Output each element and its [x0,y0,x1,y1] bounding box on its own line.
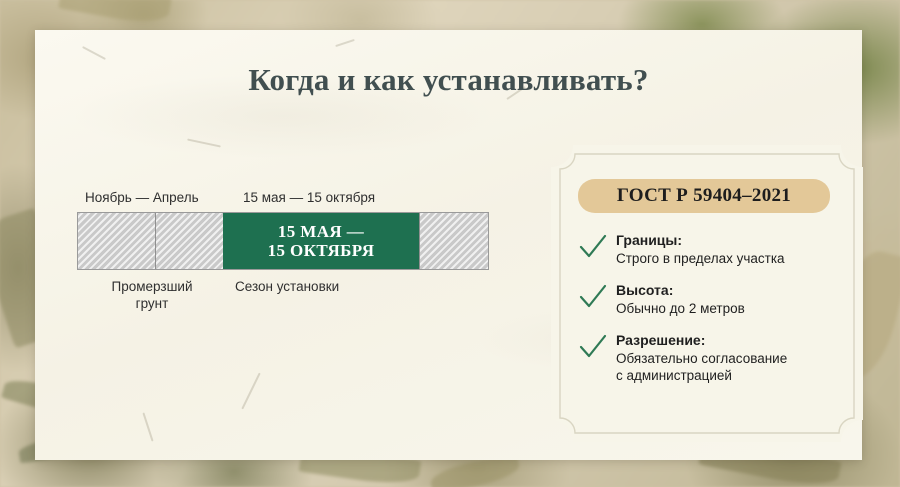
list-item-desc-line2: с администрацией [616,367,787,384]
timeline-segment-frozen-a [78,213,155,269]
list-item-term: Разрешение: [616,332,787,350]
paper-fibre [187,138,221,147]
list-item-text: Границы: Строго в пределах участка [616,232,785,267]
page-title: Когда и как устанавливать? [35,62,862,98]
timeline-segment-frozen-c [419,213,488,269]
list-item-term: Высота: [616,282,745,300]
timeline-segment-season: 15 МАЯ — 15 ОКТЯБРЯ [223,213,419,269]
timeline-season-text: 15 МАЯ — 15 ОКТЯБРЯ [268,222,375,260]
list-item-desc-line1: Обязательно согласование [616,350,787,367]
installation-timeline: Ноябрь — Апрель 15 мая — 15 октября 15 М… [77,190,497,321]
list-item-desc-line1: Обычно до 2 метров [616,300,745,317]
timeline-season-text-line1: 15 МАЯ — [278,222,364,241]
check-icon [579,232,607,267]
slide-card: Когда и как устанавливать? Ноябрь — Апре… [35,30,862,460]
paper-fibre [82,46,106,60]
timeline-label-frozen-period: Ноябрь — Апрель [85,190,199,205]
list-item-term: Границы: [616,232,785,250]
timeline-bottom-labels: Промерзший грунт Сезон установки [77,279,497,321]
list-item: Высота: Обычно до 2 метров [579,282,847,317]
timeline-caption-frozen-ground: Промерзший грунт [87,279,217,313]
gost-standard-badge: ГОСТ Р 59404–2021 [578,179,830,213]
check-icon [579,282,607,317]
paper-fibre [241,373,260,410]
gost-card-content: ГОСТ Р 59404–2021 Границы: Строго в пред… [551,145,863,442]
timeline-segment-frozen-b [155,213,223,269]
gost-requirements-list: Границы: Строго в пределах участка Высот… [579,232,847,399]
check-icon [579,332,607,384]
timeline-caption-frozen-line2: грунт [136,296,169,311]
list-item: Границы: Строго в пределах участка [579,232,847,267]
timeline-caption-frozen-line1: Промерзший [112,279,193,294]
timeline-season-text-line2: 15 ОКТЯБРЯ [268,241,375,260]
timeline-top-labels: Ноябрь — Апрель 15 мая — 15 октября [77,190,497,212]
list-item-desc-line1: Строго в пределах участка [616,250,785,267]
timeline-label-season-period: 15 мая — 15 октября [243,190,375,205]
timeline-bar: 15 МАЯ — 15 ОКТЯБРЯ [77,212,489,270]
timeline-caption-install-season: Сезон установки [235,279,415,296]
list-item-text: Разрешение: Обязательно согласование с а… [616,332,787,384]
list-item: Разрешение: Обязательно согласование с а… [579,332,847,384]
list-item-text: Высота: Обычно до 2 метров [616,282,745,317]
paper-fibre [142,412,153,441]
paper-fibre [335,39,355,47]
